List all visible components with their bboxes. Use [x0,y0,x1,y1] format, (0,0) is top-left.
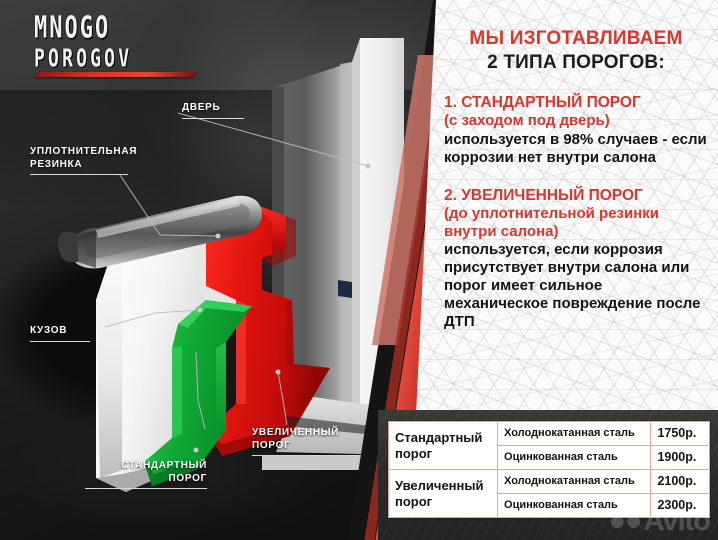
panel-block-standard: 1. СТАНДАРТНЫЙ ПОРОГ (с заходом под двер… [444,94,708,167]
callout-seal-label-line2: РЕЗИНКА [30,159,82,170]
block-standard-subtitle: (с заходом под дверь) [444,112,708,130]
callout-seal-underline [30,174,128,175]
callout-standard-label-line1: СТАНДАРТНЫЙ [121,460,207,471]
callout-enlarged-underline [252,455,358,456]
table-row: Увеличенный порог Холоднокатанная сталь … [389,470,710,494]
panel-block-enlarged: 2. УВЕЛИЧЕННЫЙ ПОРОГ (до уплотнительной … [444,187,708,332]
price-value: 1900р. [651,446,710,470]
callout-standard-underline [85,488,207,489]
block-enlarged-title: 2. УВЕЛИЧЕННЫЙ ПОРОГ [444,187,708,205]
callout-seal: УПЛОТНИТЕЛЬНАЯ РЕЗИНКА [30,146,137,175]
callout-body-underline [30,341,90,342]
price-value: 1750р. [651,422,710,446]
price-table: Стандартный порог Холоднокатанная сталь … [388,421,710,518]
price-material: Холоднокатанная сталь [498,422,651,446]
callout-door-label: ДВЕРЬ [182,102,220,113]
price-material: Оцинкованная сталь [498,446,651,470]
price-value: 2300р. [651,494,710,518]
callout-seal-label-line1: УПЛОТНИТЕЛЬНАЯ [30,146,137,157]
callout-door: ДВЕРЬ [182,102,244,119]
panel-header: МЫ ИЗГОТАВЛИВАЕМ 2 ТИПА ПОРОГОВ: [444,28,708,74]
callout-enlarged-sill: УВЕЛИЧЕННЫЙ ПОРОГ [252,427,372,456]
block-standard-body: используется в 98% случаев - если корроз… [444,131,708,167]
callout-enlarged-label-line2: ПОРОГ [252,440,290,451]
block-standard-title: 1. СТАНДАРТНЫЙ ПОРОГ [444,94,708,112]
table-row: Стандартный порог Холоднокатанная сталь … [389,422,710,446]
poster-root: MNOGO POROGOV [0,0,718,540]
block-enlarged-subtitle: (до уплотнительной резинки внутри салона… [444,205,708,240]
callout-door-underline [182,118,244,119]
panel-content: МЫ ИЗГОТАВЛИВАЕМ 2 ТИПА ПОРОГОВ: 1. СТАН… [444,0,708,331]
callout-body-label: КУЗОВ [30,325,67,336]
price-material: Оцинкованная сталь [498,494,651,518]
block-enlarged-body: используется, если коррозия присутствует… [444,241,708,331]
price-kind-enlarged: Увеличенный порог [389,470,498,518]
callout-standard-sill: СТАНДАРТНЫЙ ПОРОГ [85,460,207,489]
price-table-strip: Стандартный порог Холоднокатанная сталь … [378,410,718,540]
callout-enlarged-label-line1: УВЕЛИЧЕННЫЙ [252,427,339,438]
price-material: Холоднокатанная сталь [498,470,651,494]
panel-header-line2: 2 ТИПА ПОРОГОВ: [444,52,708,74]
price-value: 2100р. [651,470,710,494]
panel-header-line1: МЫ ИЗГОТАВЛИВАЕМ [444,28,708,50]
price-kind-standard: Стандартный порог [389,422,498,470]
callout-body: КУЗОВ [30,325,90,342]
callout-standard-label-line2: ПОРОГ [169,473,207,484]
